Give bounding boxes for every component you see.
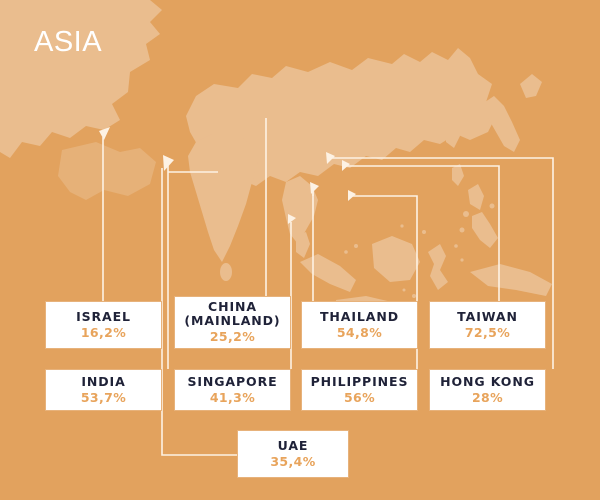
country-value: 16,2%	[81, 325, 126, 341]
country-name: TAIWAN	[457, 310, 518, 324]
country-value: 54,8%	[337, 325, 382, 341]
country-name: INDIA	[81, 375, 125, 389]
country-value: 41,3%	[210, 390, 255, 406]
country-value: 72,5%	[465, 325, 510, 341]
country-name: PHILIPPINES	[311, 375, 409, 389]
arrowhead-taiwan-icon	[342, 160, 350, 171]
country-value: 28%	[472, 390, 503, 406]
country-name: THAILAND	[320, 310, 399, 324]
country-box-thailand[interactable]: THAILAND54,8%	[301, 301, 418, 349]
country-box-philippines[interactable]: PHILIPPINES56%	[301, 369, 418, 411]
country-value: 56%	[344, 390, 375, 406]
arrowhead-thailand-icon	[310, 182, 319, 194]
arrowhead-hongkong-icon	[326, 152, 335, 164]
country-name: UAE	[278, 439, 309, 453]
country-name: SINGAPORE	[187, 375, 277, 389]
arrowhead-singapore-icon	[288, 214, 296, 224]
country-box-israel[interactable]: ISRAEL16,2%	[45, 301, 162, 349]
country-box-india[interactable]: INDIA53,7%	[45, 369, 162, 411]
asia-map	[0, 0, 600, 500]
country-box-china[interactable]: CHINA (MAINLAND)25,2%	[174, 296, 291, 349]
country-box-singapore[interactable]: SINGAPORE41,3%	[174, 369, 291, 411]
connector-taiwan	[345, 166, 499, 301]
country-name: ISRAEL	[76, 310, 131, 324]
country-box-uae[interactable]: UAE35,4%	[237, 430, 349, 478]
arrowhead-philippines-icon	[348, 190, 356, 201]
country-value: 35,4%	[270, 454, 315, 470]
asia-infographic: ASIA ISRAEL16,2%CHINA (MAINLAND)25,2%THA…	[0, 0, 600, 500]
arrowhead-india-icon	[163, 155, 174, 171]
country-name: HONG KONG	[440, 375, 535, 389]
country-box-hongkong[interactable]: HONG KONG28%	[429, 369, 546, 411]
arrowhead-israel-icon	[99, 127, 110, 140]
page-title: ASIA	[34, 28, 102, 57]
country-value: 53,7%	[81, 390, 126, 406]
connector-lines	[0, 0, 600, 500]
country-name: CHINA (MAINLAND)	[184, 300, 280, 328]
country-value: 25,2%	[210, 329, 255, 345]
country-box-taiwan[interactable]: TAIWAN72,5%	[429, 301, 546, 349]
